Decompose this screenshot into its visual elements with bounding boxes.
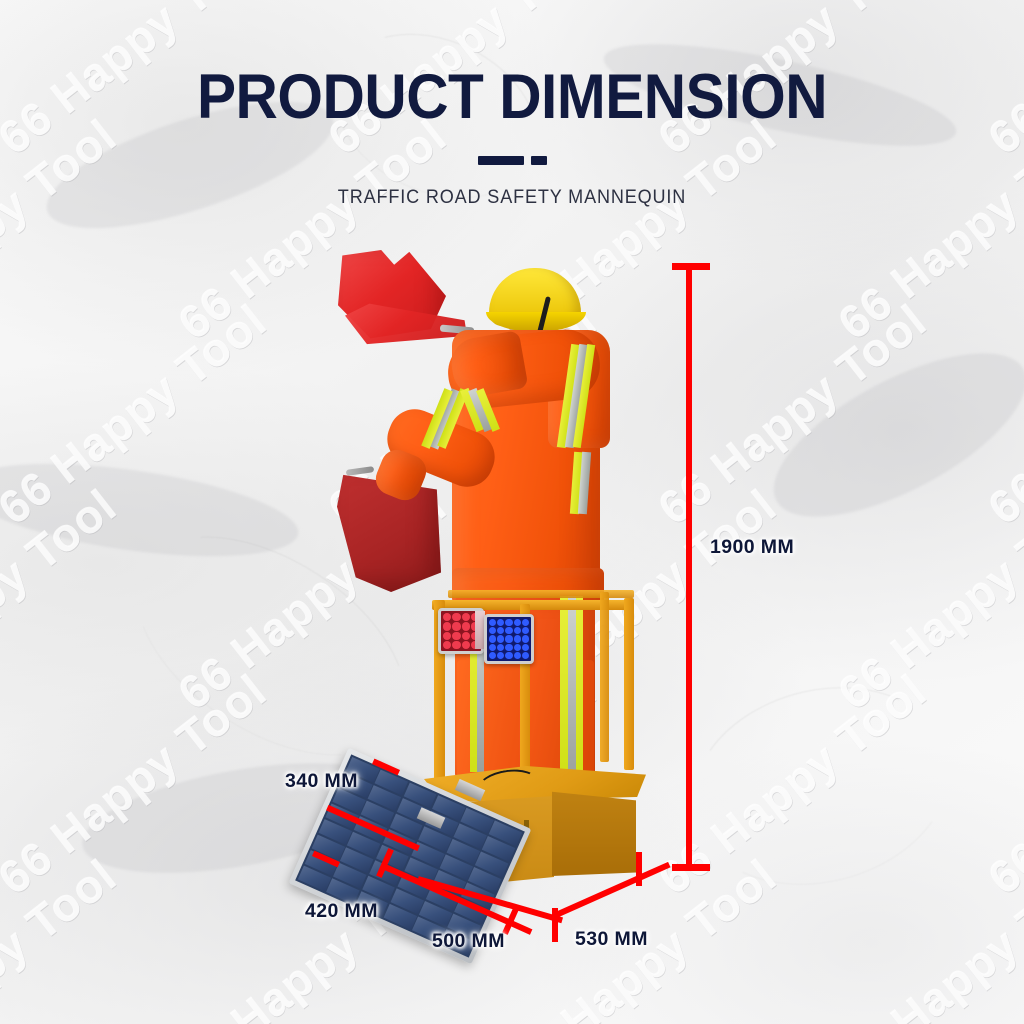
- battery-cabinet-side: [552, 790, 636, 876]
- product-photo: [0, 0, 1024, 1024]
- dimension-label-420mm: 420 MM: [305, 900, 378, 923]
- reflective-stripe-yellow: [576, 596, 583, 780]
- cabinet-width-cap: [636, 852, 642, 886]
- dimension-label-500mm: 500 MM: [432, 930, 505, 953]
- reflective-stripe-yellow: [560, 596, 568, 780]
- height-dimension-cap-bottom: [672, 864, 710, 871]
- guard-rail-post-back-left: [600, 592, 609, 762]
- hi-vis-trouser-leg-left: [457, 660, 519, 780]
- guard-rail-post-back-right: [624, 598, 634, 770]
- flag-handle-lower: [346, 466, 375, 476]
- dimension-label-530mm: 530 MM: [575, 928, 648, 951]
- dimension-label-340mm: 340 MM: [285, 770, 358, 793]
- reflective-stripe-silver: [568, 596, 576, 780]
- led-lamp-blue: [484, 614, 534, 664]
- height-dimension-line: [686, 263, 692, 871]
- height-dimension-cap-top: [672, 263, 710, 270]
- dimension-label-1900mm: 1900 MM: [710, 536, 794, 559]
